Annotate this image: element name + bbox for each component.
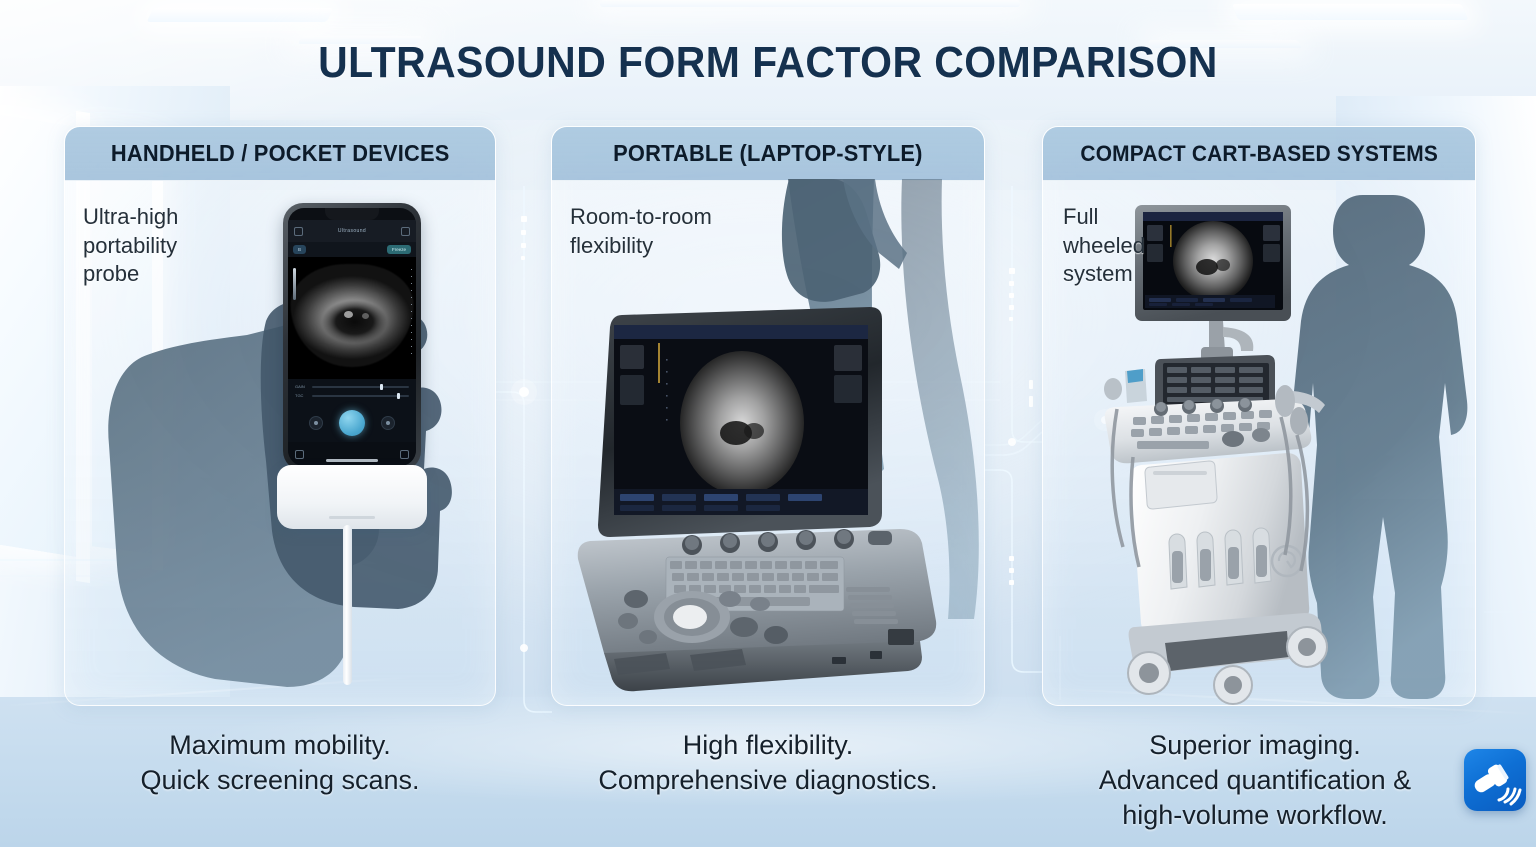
scan-thumbnail	[1263, 225, 1280, 241]
app-sub-bar: B Freeze	[288, 242, 416, 257]
app-slider-group: GAIN TGC	[288, 379, 416, 405]
cart-base	[1128, 613, 1327, 704]
settings-icon[interactable]	[309, 416, 323, 430]
control-knob	[764, 626, 788, 644]
monitor-arm	[1209, 321, 1225, 351]
capture-icon[interactable]	[381, 416, 395, 430]
scan-thumbnail	[620, 375, 644, 405]
ultrasound-image-phone	[288, 257, 416, 379]
home-indicator	[326, 459, 378, 462]
cart-body	[1131, 453, 1310, 637]
slider-label: TGC	[295, 393, 308, 398]
slider-row[interactable]: TGC	[295, 393, 409, 398]
slider-label: GAIN	[295, 384, 308, 389]
transducer-probe	[1200, 549, 1211, 581]
depth-bar	[293, 268, 296, 300]
panel-header-label: COMPACT CART-BASED SYSTEMS	[1080, 141, 1438, 167]
scan-thumbnail	[834, 375, 862, 403]
panel-header-cart: COMPACT CART-BASED SYSTEMS	[1043, 127, 1475, 181]
scan-thumbnail	[620, 345, 644, 369]
panel-body-handheld: Ultra-high portability probe Ultrasound	[65, 181, 495, 706]
control-knob	[639, 630, 657, 644]
screen-title-bar	[614, 325, 868, 339]
slider-row[interactable]: GAIN	[295, 384, 409, 389]
transducer-probe	[1172, 551, 1183, 583]
annotation-portable: Room-to-room flexibility	[570, 203, 712, 260]
reaching-hand-silhouette	[747, 179, 907, 319]
panel-handheld[interactable]: HANDHELD / POCKET DEVICES Ultra-high por…	[64, 126, 496, 706]
color-scale	[1170, 225, 1172, 247]
panel-portable[interactable]: PORTABLE (LAPTOP-STYLE) Room-to-room fle…	[551, 126, 985, 706]
annotation-cart: Full wheeled system	[1063, 203, 1145, 289]
trackball	[1222, 431, 1244, 447]
transducer-probe	[1228, 547, 1239, 579]
probe-cable	[343, 525, 352, 685]
monitor-title-bar	[1143, 212, 1283, 221]
control-knob	[624, 590, 648, 608]
caption-cart: Superior imaging. Advanced quantificatio…	[1030, 728, 1480, 833]
gel-bottle-label	[1127, 369, 1143, 383]
slider-track[interactable]	[312, 395, 409, 397]
ceiling-light-strip	[147, 8, 334, 22]
panel-cart[interactable]: COMPACT CART-BASED SYSTEMS Full wheeled …	[1042, 126, 1476, 706]
slider-handle[interactable]	[397, 393, 400, 399]
freeze-button[interactable]	[339, 410, 365, 436]
screen-toolbar	[614, 489, 868, 515]
probe-dock	[277, 465, 427, 529]
page-title: ULTRASOUND FORM FACTOR COMPARISON	[54, 38, 1482, 88]
control-knob	[618, 613, 638, 629]
panel-header-portable: PORTABLE (LAPTOP-STYLE)	[552, 127, 984, 181]
panel-body-portable: Room-to-room flexibility	[552, 181, 984, 706]
smartphone[interactable]: Ultrasound B Freeze	[283, 203, 421, 471]
power-icon[interactable]	[400, 450, 409, 459]
scan-feature	[744, 423, 764, 439]
monitor-toolbar	[1145, 295, 1275, 308]
control-knob	[730, 617, 758, 637]
ultrasound-probe-waves-icon	[1468, 753, 1522, 807]
app-control-row	[288, 405, 416, 442]
slider-handle[interactable]	[380, 384, 383, 390]
gallery-icon[interactable]	[295, 450, 304, 459]
dock-seam	[329, 516, 375, 519]
scan-thumbnail	[1147, 244, 1163, 262]
freeze-pill[interactable]: Freeze	[387, 245, 411, 254]
control-knob	[750, 597, 770, 611]
scan-thumbnail	[1147, 225, 1163, 241]
panel-header-label: PORTABLE (LAPTOP-STYLE)	[613, 140, 922, 167]
probe-hook	[1104, 378, 1122, 400]
caption-handheld: Maximum mobility. Quick screening scans.	[64, 728, 496, 798]
phone-screen[interactable]: Ultrasound B Freeze	[288, 208, 416, 466]
portable-ultrasound-device[interactable]	[570, 299, 970, 699]
scan-thumbnail	[1263, 244, 1280, 262]
handheld-ultrasound-device[interactable]: Ultrasound B Freeze	[263, 203, 438, 703]
phone-notch	[325, 208, 379, 220]
color-scale	[658, 343, 660, 383]
brand-logo[interactable]	[1464, 749, 1526, 811]
cart-console	[1104, 355, 1325, 463]
panel-body-cart: Full wheeled system	[1043, 181, 1475, 706]
probe-holder	[1290, 407, 1308, 435]
scan-feature	[1196, 259, 1218, 275]
trackball	[673, 605, 707, 629]
ceiling-light-strip	[600, 0, 1020, 7]
transducer-probe	[1256, 545, 1267, 577]
app-title-label: Ultrasound	[338, 228, 366, 234]
ceiling-light-strip	[1232, 4, 1468, 20]
depth-scale	[411, 269, 412, 357]
panel-header-handheld: HANDHELD / POCKET DEVICES	[65, 127, 495, 181]
control-knob	[1252, 428, 1270, 442]
panel-header-label: HANDHELD / POCKET DEVICES	[111, 140, 450, 167]
control-knob	[719, 591, 741, 607]
annotation-handheld: Ultra-high portability probe	[83, 203, 178, 289]
caption-portable: High flexibility. Comprehensive diagnost…	[551, 728, 985, 798]
slider-track[interactable]	[312, 386, 409, 388]
cart-monitor	[1135, 205, 1291, 361]
mode-pill[interactable]: B	[293, 245, 306, 254]
app-top-bar: Ultrasound	[288, 220, 416, 242]
menu-icon[interactable]	[294, 227, 303, 236]
scan-feature	[344, 311, 353, 318]
scan-feature	[1216, 259, 1230, 271]
printer-drawer	[1145, 461, 1217, 509]
search-icon[interactable]	[401, 227, 410, 236]
scan-thumbnail	[834, 345, 862, 371]
probe-holder	[1275, 385, 1295, 417]
app-bottom-bar	[288, 442, 416, 466]
infographic-root: ULTRASOUND FORM FACTOR COMPARISON HANDHE…	[0, 0, 1536, 847]
